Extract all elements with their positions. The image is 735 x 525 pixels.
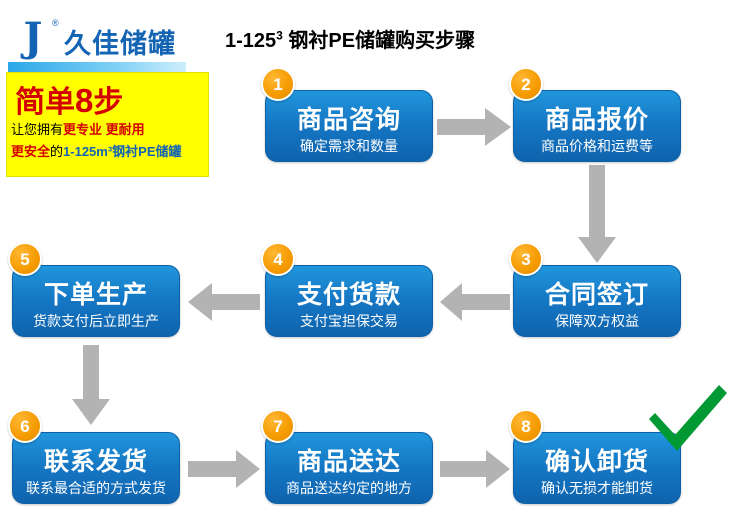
step-box-7[interactable]: 商品送达 商品送达约定的地方 bbox=[265, 432, 433, 504]
step-4-subtitle: 支付宝担保交易 bbox=[266, 311, 432, 331]
promo-subline-1: 让您拥有更专业 更耐用 bbox=[11, 119, 145, 138]
flowchart-page: J ® 久佳储罐 1-1253 钢衬PE储罐购买步骤 简单8步 让您拥有更专业 … bbox=[0, 0, 735, 525]
step-2-title: 商品报价 bbox=[514, 100, 680, 136]
step-1-title: 商品咨询 bbox=[266, 100, 432, 136]
arrow-step5-to-step6 bbox=[72, 345, 110, 425]
step-box-2[interactable]: 商品报价 商品价格和运费等 bbox=[513, 90, 681, 162]
step-3-badge: 3 bbox=[509, 242, 543, 276]
step-6-title: 联系发货 bbox=[13, 442, 179, 478]
step-6-badge: 6 bbox=[8, 409, 42, 443]
promo-subline-2-c: 1-125m³ bbox=[63, 144, 112, 159]
promo-banner: 简单8步 让您拥有更专业 更耐用 更安全的1-125m³钢衬PE储罐 bbox=[6, 72, 209, 177]
step-1-badge: 1 bbox=[261, 67, 295, 101]
promo-headline: 简单8步 bbox=[15, 77, 123, 121]
promo-subline-2-b: 的 bbox=[50, 144, 63, 159]
promo-subline-1-b: 更专业 bbox=[63, 122, 102, 137]
step-5-badge: 5 bbox=[8, 242, 42, 276]
step-2-badge: 2 bbox=[509, 67, 543, 101]
arrow-step4-to-step5 bbox=[188, 283, 260, 321]
registered-trademark-icon: ® bbox=[52, 18, 59, 28]
arrow-step7-to-step8 bbox=[440, 450, 510, 488]
step-box-1[interactable]: 商品咨询 确定需求和数量 bbox=[265, 90, 433, 162]
step-8-subtitle: 确认无损才能卸货 bbox=[514, 478, 680, 498]
step-4-title: 支付货款 bbox=[266, 275, 432, 311]
step-box-5[interactable]: 下单生产 货款支付后立即生产 bbox=[12, 265, 180, 337]
step-box-4[interactable]: 支付货款 支付宝担保交易 bbox=[265, 265, 433, 337]
step-6-subtitle: 联系最合适的方式发货 bbox=[13, 478, 179, 498]
step-7-badge: 7 bbox=[261, 409, 295, 443]
step-7-title: 商品送达 bbox=[266, 442, 432, 478]
page-title: 1-1253 钢衬PE储罐购买步骤 bbox=[225, 24, 475, 53]
check-mark-icon bbox=[645, 383, 729, 455]
step-7-subtitle: 商品送达约定的地方 bbox=[266, 478, 432, 498]
brand-name: 久佳储罐 bbox=[64, 22, 176, 61]
arrow-step2-to-step3 bbox=[578, 165, 616, 263]
arrow-step6-to-step7 bbox=[188, 450, 260, 488]
promo-subline-1-c: 更耐用 bbox=[102, 122, 145, 137]
logo-icon: J bbox=[12, 16, 54, 60]
step-box-6[interactable]: 联系发货 联系最合适的方式发货 bbox=[12, 432, 180, 504]
step-3-title: 合同签订 bbox=[514, 275, 680, 311]
step-1-subtitle: 确定需求和数量 bbox=[266, 136, 432, 156]
promo-headline-number: 8 bbox=[75, 82, 93, 119]
promo-subline-2-a: 更安全 bbox=[11, 144, 50, 159]
brand-logo: J ® 久佳储罐 bbox=[8, 16, 213, 64]
page-title-main: 1-125 bbox=[225, 30, 276, 52]
step-4-badge: 4 bbox=[261, 242, 295, 276]
promo-headline-a: 简单 bbox=[15, 86, 75, 119]
step-3-subtitle: 保障双方权益 bbox=[514, 311, 680, 331]
promo-subline-1-a: 让您拥有 bbox=[11, 122, 63, 137]
step-2-subtitle: 商品价格和运费等 bbox=[514, 136, 680, 156]
promo-subline-2: 更安全的1-125m³钢衬PE储罐 bbox=[11, 141, 182, 160]
promo-headline-b: 步 bbox=[93, 86, 123, 119]
page-title-superscript: 3 bbox=[276, 28, 283, 42]
step-5-subtitle: 货款支付后立即生产 bbox=[13, 311, 179, 331]
arrow-step1-to-step2 bbox=[437, 108, 511, 146]
step-box-3[interactable]: 合同签订 保障双方权益 bbox=[513, 265, 681, 337]
page-title-rest: 钢衬PE储罐购买步骤 bbox=[283, 30, 475, 52]
arrow-step3-to-step4 bbox=[440, 283, 510, 321]
step-8-badge: 8 bbox=[509, 409, 543, 443]
step-5-title: 下单生产 bbox=[13, 275, 179, 311]
promo-subline-2-d: 钢衬PE储罐 bbox=[112, 144, 181, 159]
